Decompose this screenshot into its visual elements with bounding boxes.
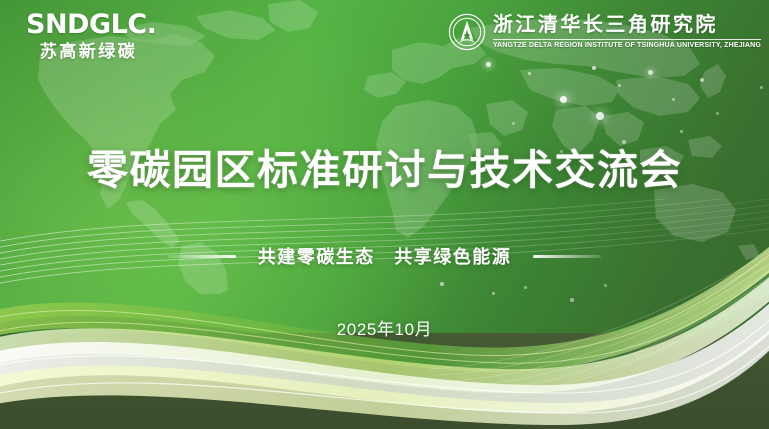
presentation-title-slide: SNDGLC. 苏高新绿碳 浙江清华长三角研究院 YANGTZE DELTA R… (0, 0, 769, 429)
tsinghua-yrd-logo: 浙江清华长三角研究院 YANGTZE DELTA REGION INSTITUT… (448, 13, 761, 51)
page-title: 零碳园区标准研讨与技术交流会 (0, 148, 769, 194)
bottom-dark-band (0, 333, 769, 429)
subtitle-row: 共建零碳生态 共享绿色能源 (0, 243, 769, 269)
subtitle-rule-left (168, 255, 236, 258)
tsinghua-yrd-english-name: YANGTZE DELTA REGION INSTITUTE OF TSINGH… (493, 42, 761, 50)
tsinghua-yrd-emblem-icon (448, 13, 486, 51)
green-wave-ribbons (0, 199, 769, 429)
subtitle-rule-right (533, 255, 601, 258)
sndglc-logo: SNDGLC. 苏高新绿碳 (26, 11, 186, 62)
bokeh-sparkles (0, 0, 769, 429)
sndglc-chinese-name: 苏高新绿碳 (26, 43, 151, 62)
event-date: 2025年10月 (0, 315, 769, 340)
logo-divider (493, 39, 761, 40)
tsinghua-yrd-chinese-name: 浙江清华长三角研究院 (493, 14, 718, 37)
subtitle-text: 共建零碳生态 共享绿色能源 (258, 243, 512, 269)
sndglc-wordmark: SNDGLC. (26, 11, 186, 38)
